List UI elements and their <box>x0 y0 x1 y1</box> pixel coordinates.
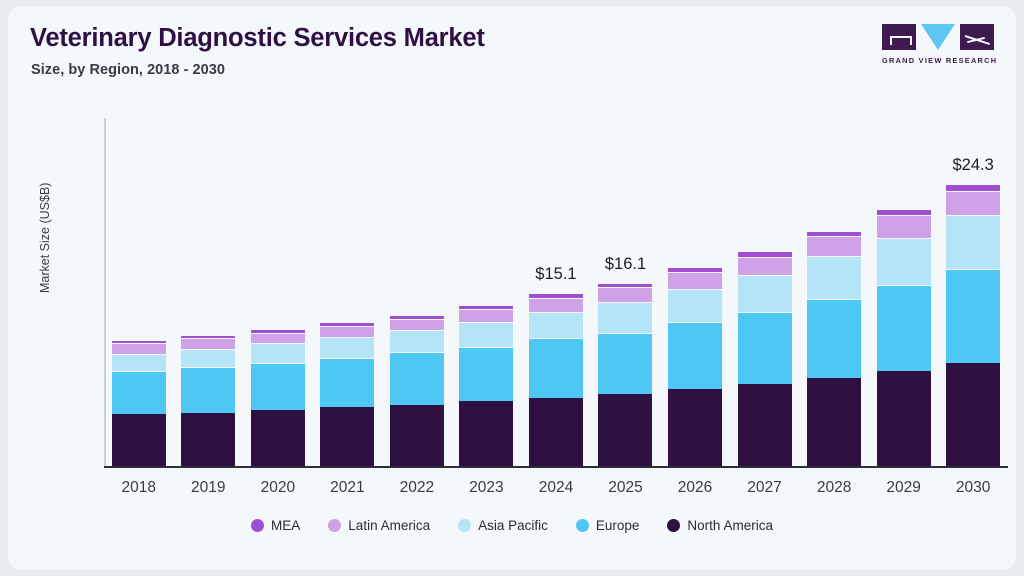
bar-segment[interactable] <box>181 349 235 368</box>
bar-data-label: $16.1 <box>605 255 646 274</box>
x-axis-tick: 2028 <box>817 479 851 497</box>
x-axis-tick: 2023 <box>469 479 503 497</box>
bar-segment[interactable] <box>738 312 792 384</box>
g-block-icon <box>882 24 916 50</box>
legend-swatch-icon <box>251 519 264 532</box>
bar-slot: $24.32030 <box>938 118 1008 466</box>
bar-slot: 2026 <box>660 118 730 466</box>
bar-segment[interactable] <box>320 358 374 407</box>
stacked-bar[interactable]: $15.12024 <box>529 293 583 466</box>
page-subtitle: Size, by Region, 2018 - 2030 <box>31 62 225 78</box>
brand-logo: GRAND VIEW RESEARCH <box>882 24 994 65</box>
bar-segment[interactable] <box>529 338 583 397</box>
bar-segment[interactable] <box>181 367 235 412</box>
legend-swatch-icon <box>458 519 471 532</box>
bar-slot: $16.12025 <box>591 118 661 466</box>
x-axis-tick: 2027 <box>747 479 781 497</box>
bar-segment[interactable] <box>529 298 583 312</box>
legend-label: Asia Pacific <box>478 518 548 533</box>
bar-segment[interactable] <box>181 413 235 466</box>
chart-legend: MEALatin AmericaAsia PacificEuropeNorth … <box>8 518 1016 533</box>
logo-mark <box>882 24 994 50</box>
bar-segment[interactable] <box>251 333 305 343</box>
legend-item[interactable]: Asia Pacific <box>458 518 548 533</box>
bar-segment[interactable] <box>459 401 513 466</box>
bar-segment[interactable] <box>738 384 792 466</box>
bar-segment[interactable] <box>529 312 583 339</box>
stacked-bar[interactable]: 2018 <box>112 340 166 466</box>
legend-item[interactable]: MEA <box>251 518 300 533</box>
bar-segment[interactable] <box>738 257 792 274</box>
bar-segment[interactable] <box>946 184 1000 191</box>
bar-segment[interactable] <box>390 405 444 466</box>
stacked-bar[interactable]: 2022 <box>390 315 444 466</box>
legend-label: Europe <box>596 518 640 533</box>
stacked-bar[interactable]: 2023 <box>459 305 513 466</box>
bar-slot: 2023 <box>452 118 522 466</box>
bar-segment[interactable] <box>459 309 513 322</box>
bar-segment[interactable] <box>251 363 305 411</box>
x-axis-tick: 2025 <box>608 479 642 497</box>
bar-slot: 2021 <box>313 118 383 466</box>
stacked-bar[interactable]: 2019 <box>181 335 235 466</box>
x-axis-tick: 2029 <box>886 479 920 497</box>
bar-segment[interactable] <box>946 215 1000 268</box>
x-axis-tick: 2020 <box>261 479 295 497</box>
bar-segment[interactable] <box>112 343 166 353</box>
bar-segment[interactable] <box>877 215 931 237</box>
page-title: Veterinary Diagnostic Services Market <box>30 24 485 53</box>
stacked-bar[interactable]: $16.12025 <box>598 283 652 466</box>
stacked-bar[interactable]: 2027 <box>738 251 792 466</box>
x-axis-tick: 2022 <box>400 479 434 497</box>
bar-segment[interactable] <box>390 352 444 404</box>
bar-segment[interactable] <box>112 371 166 414</box>
r-block-icon <box>960 24 994 50</box>
stacked-bar[interactable]: 2020 <box>251 329 305 466</box>
legend-label: North America <box>687 518 773 533</box>
bar-data-label: $24.3 <box>952 156 993 175</box>
v-triangle-icon <box>921 24 955 50</box>
bar-segment[interactable] <box>320 337 374 358</box>
bar-segment[interactable] <box>668 272 722 288</box>
bar-segment[interactable] <box>807 378 861 466</box>
bar-data-label: $15.1 <box>535 265 576 284</box>
bar-segment[interactable] <box>807 236 861 256</box>
bar-segment[interactable] <box>598 302 652 332</box>
stacked-bar[interactable]: 2021 <box>320 322 374 466</box>
bar-segment[interactable] <box>668 389 722 466</box>
bar-segment[interactable] <box>877 238 931 286</box>
bar-slot: 2027 <box>730 118 800 466</box>
legend-item[interactable]: Latin America <box>328 518 430 533</box>
bar-segment[interactable] <box>668 322 722 389</box>
logo-wordmark: GRAND VIEW RESEARCH <box>882 56 994 65</box>
x-axis-tick: 2024 <box>539 479 573 497</box>
plot-area: 051015202530 201820192020202120222023$15… <box>104 118 1008 468</box>
bar-slot: 2022 <box>382 118 452 466</box>
bar-segment[interactable] <box>946 269 1000 363</box>
bar-segment[interactable] <box>738 275 792 312</box>
x-axis-tick: 2026 <box>678 479 712 497</box>
bar-segment[interactable] <box>877 371 931 466</box>
bar-segment[interactable] <box>877 209 931 216</box>
legend-swatch-icon <box>328 519 341 532</box>
bar-segment[interactable] <box>598 394 652 466</box>
bar-segment[interactable] <box>390 330 444 352</box>
bar-slot: 2019 <box>174 118 244 466</box>
bar-segment[interactable] <box>112 354 166 371</box>
bar-segment[interactable] <box>181 338 235 348</box>
stacked-bar[interactable]: 2026 <box>668 267 722 466</box>
bar-segment[interactable] <box>807 256 861 299</box>
bar-segment[interactable] <box>251 343 305 363</box>
bar-segment[interactable] <box>946 363 1000 466</box>
x-axis-tick: 2018 <box>122 479 156 497</box>
bar-segment[interactable] <box>320 407 374 466</box>
bar-segment[interactable] <box>877 285 931 371</box>
bar-group: 201820192020202120222023$15.12024$16.120… <box>104 118 1008 466</box>
bar-segment[interactable] <box>390 319 444 331</box>
x-axis-tick: 2019 <box>191 479 225 497</box>
bar-slot: $15.12024 <box>521 118 591 466</box>
legend-item[interactable]: North America <box>667 518 773 533</box>
bar-slot: 2029 <box>869 118 939 466</box>
legend-swatch-icon <box>576 519 589 532</box>
stacked-bar[interactable]: 2028 <box>807 231 861 466</box>
bar-slot: 2028 <box>799 118 869 466</box>
bar-segment[interactable] <box>459 347 513 402</box>
chart-card: Veterinary Diagnostic Services Market Si… <box>8 6 1016 570</box>
bar-segment[interactable] <box>807 299 861 378</box>
bar-segment[interactable] <box>529 398 583 466</box>
bar-segment[interactable] <box>946 191 1000 215</box>
legend-item[interactable]: Europe <box>576 518 640 533</box>
bar-segment[interactable] <box>320 326 374 338</box>
bar-segment[interactable] <box>598 287 652 302</box>
bar-segment[interactable] <box>598 333 652 394</box>
bar-segment[interactable] <box>112 414 166 466</box>
bar-slot: 2018 <box>104 118 174 466</box>
legend-swatch-icon <box>667 519 680 532</box>
x-axis-tick: 2021 <box>330 479 364 497</box>
legend-label: Latin America <box>348 518 430 533</box>
bar-slot: 2020 <box>243 118 313 466</box>
bar-segment[interactable] <box>668 289 722 323</box>
bar-segment[interactable] <box>459 322 513 346</box>
x-axis-tick: 2030 <box>956 479 990 497</box>
x-axis-line <box>104 466 1008 468</box>
y-axis-label: Market Size (US$B) <box>38 183 52 293</box>
bar-segment[interactable] <box>251 410 305 466</box>
legend-label: MEA <box>271 518 300 533</box>
stacked-bar[interactable]: $24.32030 <box>946 184 1000 466</box>
stacked-bar[interactable]: 2029 <box>877 209 931 466</box>
